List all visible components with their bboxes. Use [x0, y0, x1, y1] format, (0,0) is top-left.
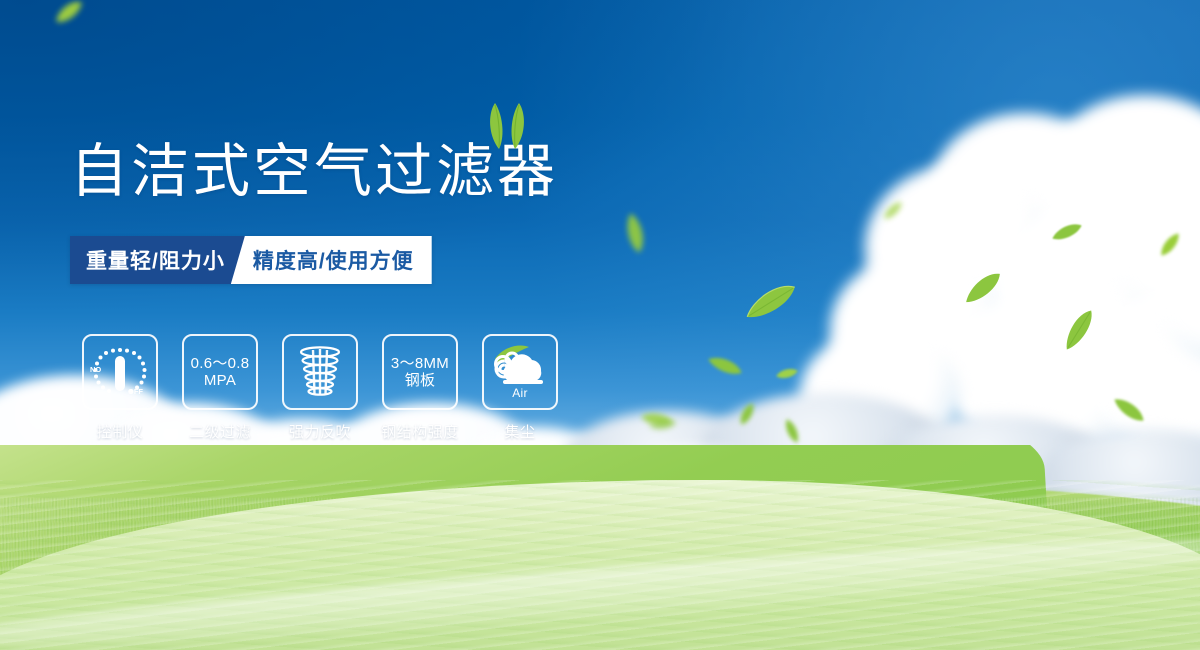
feature-item[interactable]: NO OFF 控制仪 — [70, 334, 170, 442]
badge-right: 精度高/使用方便 — [231, 236, 432, 284]
feature-item[interactable]: 3～8MM 钢板 钢结构强度 — [370, 334, 470, 442]
feature-list: NO OFF 控制仪 0.6～0.8 MPA 二级过滤 — [70, 334, 570, 442]
feature-item[interactable]: 强力反吹 — [270, 334, 370, 442]
feature-box-text: 0.6～0.8 — [191, 355, 250, 372]
feature-item[interactable]: 0.6～0.8 MPA 二级过滤 — [170, 334, 270, 442]
promo-banner: 自洁式空气过滤器 重量轻/阻力小 精度高/使用方便 — [0, 0, 1200, 650]
subtitle-badges: 重量轻/阻力小 精度高/使用方便 — [70, 236, 432, 284]
badge-left: 重量轻/阻力小 — [70, 236, 245, 284]
gauge-icon: NO OFF — [82, 334, 158, 410]
feature-label: 控制仪 — [97, 421, 144, 442]
feature-label: 强力反吹 — [289, 421, 351, 442]
coil-icon — [282, 334, 358, 410]
cloud-air-icon: Air — [482, 334, 558, 410]
feature-label: 钢结构强度 — [381, 421, 459, 442]
feature-label: 集尘 — [504, 421, 535, 442]
banner-title-wrap: 自洁式空气过滤器 — [70, 143, 558, 201]
page-title: 自洁式空气过滤器 — [70, 143, 558, 201]
feature-box-text: 3～8MM — [391, 355, 449, 372]
feature-box-text2: Air — [484, 387, 556, 401]
feature-box-text2: MPA — [204, 372, 236, 389]
sprout-leaves-icon — [469, 103, 541, 149]
steel-icon: 3～8MM 钢板 — [382, 334, 458, 410]
feature-item[interactable]: Air 集尘 — [470, 334, 570, 442]
feature-label: 二级过滤 — [189, 421, 251, 442]
feature-box-text2: 钢板 — [405, 372, 436, 389]
pressure-icon: 0.6～0.8 MPA — [182, 334, 258, 410]
svg-text:NO: NO — [90, 365, 101, 374]
svg-text:OFF: OFF — [128, 387, 143, 396]
